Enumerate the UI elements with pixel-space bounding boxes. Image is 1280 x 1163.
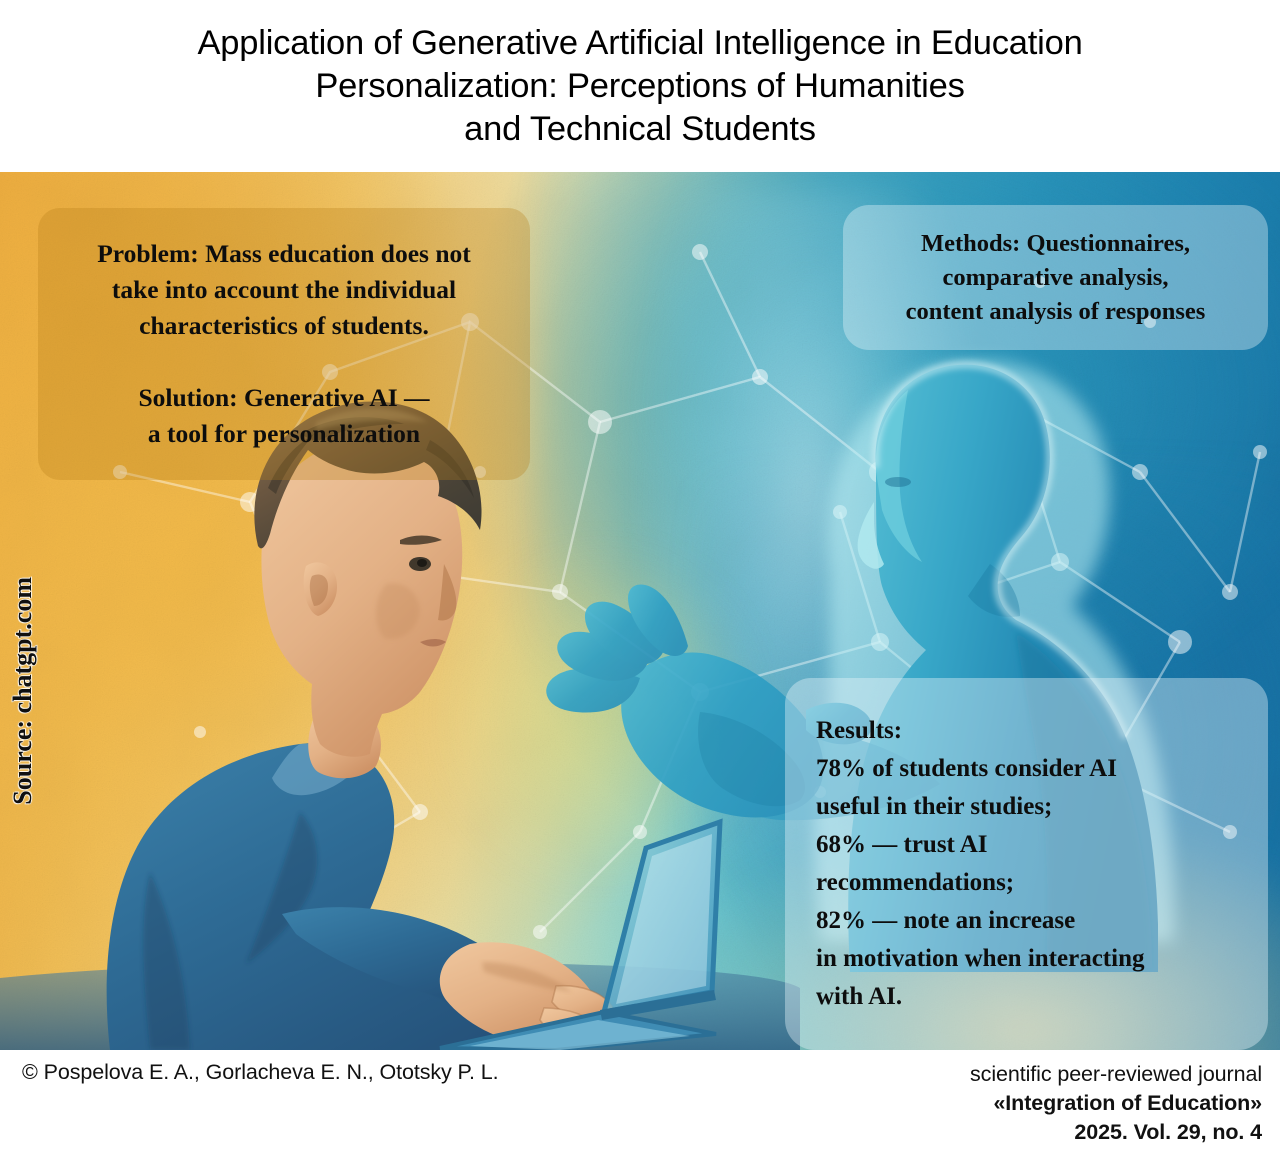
footer: © Pospelova E. A., Gorlacheva E. N., Oto…	[0, 1050, 1280, 1163]
source-credit: Source: chatgpt.com	[8, 577, 38, 805]
problem-solution-panel: Problem: Mass education does not take in…	[38, 208, 530, 480]
methods-text: Methods: Questionnaires, comparative ana…	[843, 227, 1268, 329]
journal-issue: 2025. Vol. 29, no. 4	[970, 1118, 1262, 1147]
journal-kind: scientific peer-reviewed journal	[970, 1060, 1262, 1089]
problem-solution-text: Problem: Mass education does not take in…	[38, 236, 530, 452]
methods-panel: Methods: Questionnaires, comparative ana…	[843, 205, 1268, 350]
page-title-block: Application of Generative Artificial Int…	[0, 0, 1280, 172]
results-text: Results: 78% of students consider AI use…	[816, 712, 1268, 1016]
results-panel: Results: 78% of students consider AI use…	[785, 678, 1268, 1050]
copyright-line: © Pospelova E. A., Gorlacheva E. N., Oto…	[22, 1060, 499, 1085]
journal-info: scientific peer-reviewed journal «Integr…	[970, 1060, 1262, 1147]
cover-illustration: Problem: Mass education does not take in…	[0, 172, 1280, 1050]
page-title: Application of Generative Artificial Int…	[197, 22, 1082, 151]
journal-name: «Integration of Education»	[970, 1089, 1262, 1118]
